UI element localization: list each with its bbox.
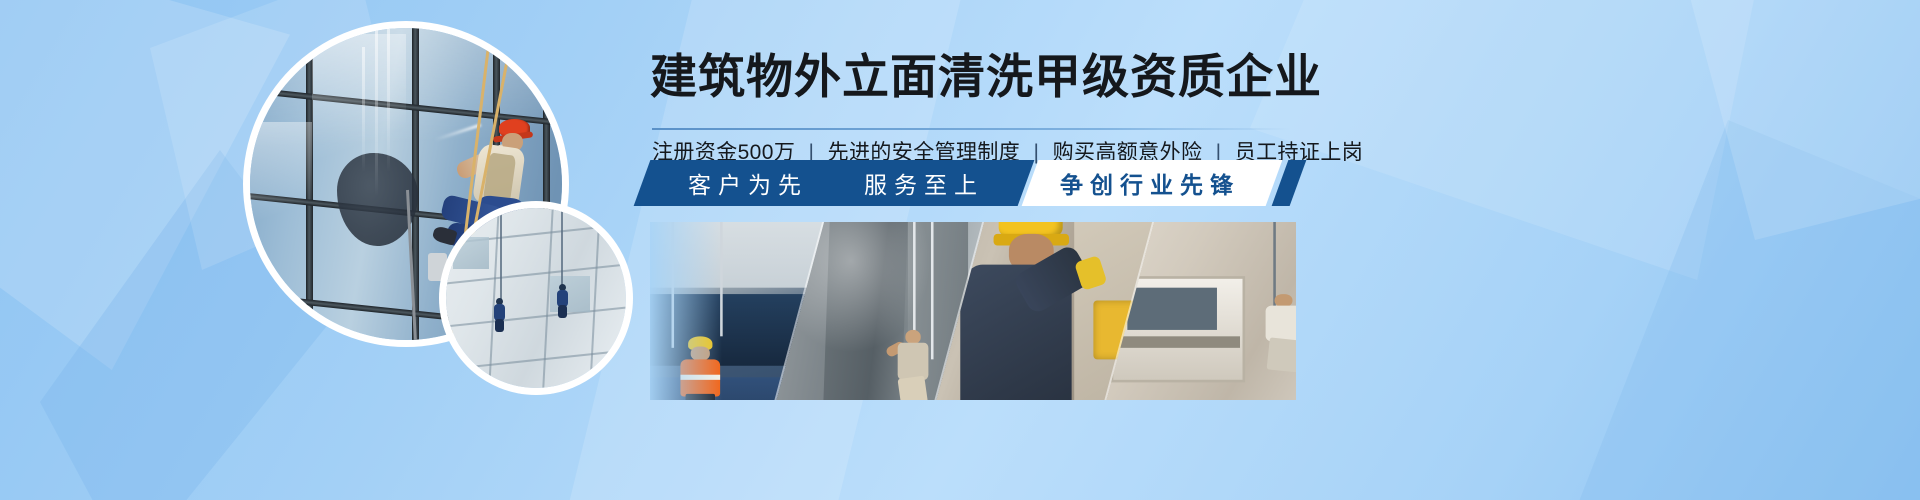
worker-figure: [1263, 294, 1296, 371]
glass-reflection: [250, 122, 312, 247]
slogan-bar: 客户为先 服务至上 争创行业先锋: [650, 160, 1298, 206]
photo-strip: [650, 222, 1296, 400]
slogan-item-1: 客户为先: [688, 166, 808, 200]
worker-legs: [1267, 337, 1296, 372]
page-title: 建筑物外立面清洗甲级资质企业: [650, 48, 1322, 106]
worker-legs: [558, 305, 567, 318]
slogan-group-white: 争创行业先锋: [1022, 160, 1283, 206]
water-streak: [362, 47, 365, 172]
balcony-railing: [1110, 336, 1240, 348]
worker-figure: [895, 330, 932, 400]
slogan-item-3: 争创行业先锋: [1060, 166, 1240, 200]
safety-rope: [500, 208, 502, 302]
circle-photo-small: [446, 208, 626, 388]
content-block: 建筑物外立面清洗甲级资质企业 注册资金500万 | 先进的安全管理制度 | 购买…: [650, 0, 1920, 500]
facade-window: [453, 237, 489, 269]
strip-left-fade: [650, 222, 722, 400]
worker-legs: [897, 376, 929, 400]
safety-rope: [561, 208, 563, 287]
water-spray: [434, 123, 481, 141]
worker-figure: [556, 284, 569, 318]
safety-rope: [931, 222, 934, 360]
photo-workers-facade: [446, 208, 626, 388]
slogan-item-2: 服务至上: [864, 166, 984, 200]
worker-body: [1265, 306, 1296, 342]
water-streak: [375, 28, 378, 196]
building-window: [1127, 288, 1217, 330]
title-divider: [652, 128, 1290, 130]
water-streak: [387, 28, 390, 172]
promo-banner: 建筑物外立面清洗甲级资质企业 注册资金500万 | 先进的安全管理制度 | 购买…: [0, 0, 1920, 500]
worker-legs: [495, 319, 504, 332]
worker-body: [898, 342, 929, 379]
background-shape-1: [0, 0, 290, 370]
worker-figure: [493, 298, 506, 332]
water-bucket: [428, 253, 447, 281]
slogan-group-navy: 客户为先 服务至上: [634, 160, 1035, 206]
